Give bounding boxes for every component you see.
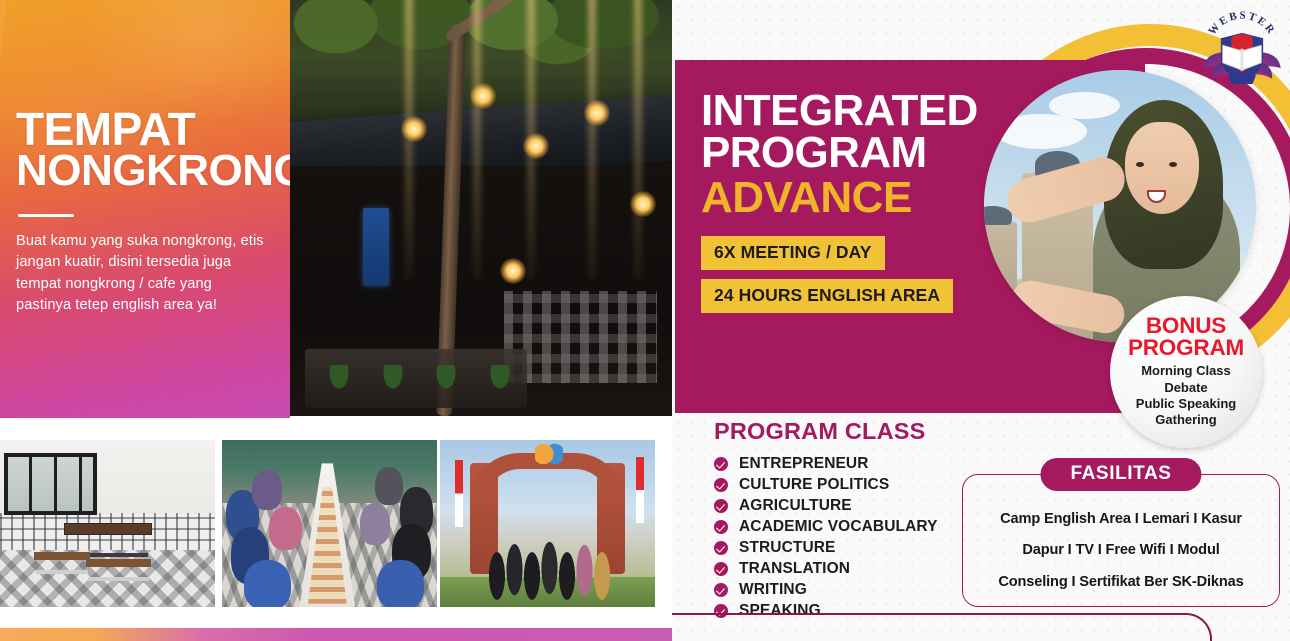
light-ray [634,0,642,280]
bonus-title-line2: PROGRAM [1128,337,1244,359]
bonus-item: Debate [1136,380,1236,396]
check-icon [714,583,728,597]
bottom-photo-strip [0,440,672,610]
check-icon [714,562,728,576]
bonus-title-line1: BONUS [1128,315,1244,337]
program-class-item: CULTURE POLITICS [714,476,984,494]
program-class-label: CULTURE POLITICS [739,476,889,494]
program-class-item: ACADEMIC VOCABULARY [714,518,984,536]
string-light-glow [500,258,526,284]
program-class-label: WRITING [739,581,807,599]
program-class-heading: PROGRAM CLASS [714,418,984,445]
fasilitas-line: Conseling I Sertifikat Ber SK-Diknas [969,574,1273,590]
bonus-program-badge: BONUS PROGRAM Morning Class Debate Publi… [1110,296,1262,448]
cafe-plant [435,365,457,391]
meal-person [377,560,424,607]
tempat-nongkrong-card: TEMPAT NONGKRONG Buat kamu yang suka non… [0,0,290,418]
crest-ribbon [1228,75,1256,84]
hero-title-line2: NONGKRONG [16,151,276,192]
bonus-item: Gathering [1136,412,1236,428]
bottom-curve-divider [672,613,1212,641]
meeting-badge: 6x MEETING / DAY [701,236,885,270]
cafe-banner-sign [363,208,389,286]
cafe-plant [382,365,404,391]
string-light-glow [584,100,610,126]
light-ray [473,0,481,280]
cloud [995,114,1087,149]
indonesian-flag [455,460,463,527]
check-icon [714,520,728,534]
light-ray [588,0,596,280]
communal-meal-photo [222,440,437,607]
tower-bridge-tower-far [984,222,1017,342]
meal-person [244,560,291,607]
fasilitas-line: Camp English Area I Lemari I Kasur [969,511,1273,527]
cafe-plant [489,365,511,391]
program-class-item: WRITING [714,581,984,599]
group-arch-photo [440,440,655,607]
program-class-label: ACADEMIC VOCABULARY [739,518,938,536]
program-class-label: AGRICULTURE [739,497,852,515]
webster-crest-logo: WEBSTER [1198,2,1286,92]
bonus-item: Public Speaking [1136,396,1236,412]
string-light-glow [523,133,549,159]
check-icon [714,457,728,471]
room-bench [34,552,90,560]
book-spine [1241,49,1244,71]
left-panel: TEMPAT NONGKRONG Buat kamu yang suka non… [0,0,672,641]
butterfly-ornament [535,443,563,465]
room-photo [0,440,215,607]
meal-person [360,503,390,545]
program-class-label: ENTREPRENEUR [739,455,869,473]
program-class-item: STRUCTURE [714,539,984,557]
room-bench [86,559,151,567]
fasilitas-line: Dapur I TV I Free Wifi I Modul [969,542,1273,558]
hero-title: TEMPAT NONGKRONG [16,108,276,192]
meal-person [252,470,282,510]
meal-person [269,507,301,550]
fasilitas-box: FASILITAS Camp English Area I Lemari I K… [962,474,1280,607]
program-class-label: STRUCTURE [739,539,835,557]
program-title-line1: INTEGRATED [701,90,978,132]
bonus-title: BONUS PROGRAM [1128,315,1244,358]
room-table [65,524,151,534]
meal-person [375,467,403,505]
program-title-line2: PROGRAM [701,132,978,174]
program-class-item: AGRICULTURE [714,497,984,515]
cafe-night-photo [290,0,672,416]
bonus-items: Morning Class Debate Public Speaking Gat… [1136,363,1236,429]
english-area-badge: 24 HOURS ENGLISH AREA [701,279,953,313]
program-class-item: ENTREPRENEUR [714,455,984,473]
program-title-advance: ADVANCE [701,176,978,220]
program-class-item: TRANSLATION [714,560,984,578]
bonus-item: Morning Class [1136,363,1236,379]
fasilitas-heading: FASILITAS [1040,458,1201,491]
room-window [4,453,96,515]
right-panel: INTEGRATED PROGRAM ADVANCE 6x MEETING / … [672,0,1290,641]
group-of-students [487,520,612,600]
cafe-plant [328,365,350,391]
program-class-section: PROGRAM CLASS ENTREPRENEUR CULTURE POLIT… [714,418,984,623]
string-light-glow [470,83,496,109]
check-icon [714,478,728,492]
hero-divider-rule [18,214,74,217]
cloud [1049,92,1120,119]
check-icon [714,499,728,513]
hero-subtitle: Buat kamu yang suka nongkrong, etis jang… [16,231,268,317]
indonesian-flag [636,457,644,524]
cafe-wall-frames [504,291,657,383]
check-icon [714,541,728,555]
program-class-label: TRANSLATION [739,560,850,578]
bottom-gradient-strip [0,628,672,641]
